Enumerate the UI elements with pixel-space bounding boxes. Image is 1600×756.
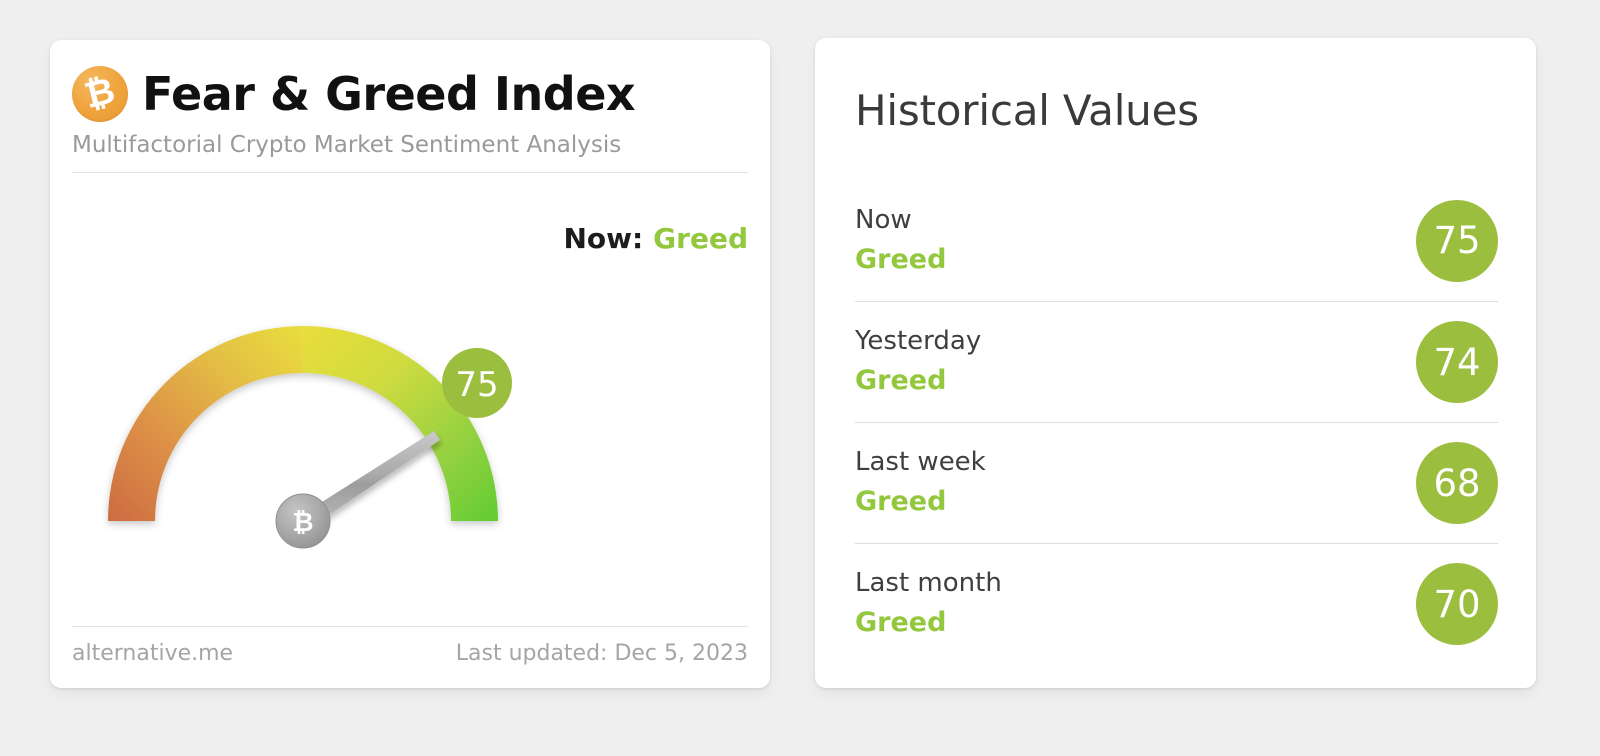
list-item[interactable]: Last week Greed 68 bbox=[855, 422, 1498, 543]
footer-divider bbox=[72, 626, 748, 627]
page-subtitle: Multifactorial Crypto Market Sentiment A… bbox=[72, 132, 748, 158]
row-value-badge: 68 bbox=[1416, 442, 1498, 524]
gauge-chart: 75 ₿ bbox=[50, 288, 770, 638]
now-label: Now: bbox=[563, 222, 643, 255]
gauge-svg: 75 ₿ bbox=[60, 288, 760, 638]
row-text-group: Yesterday Greed bbox=[855, 324, 981, 400]
historical-values-title: Historical Values bbox=[855, 86, 1199, 135]
gauge-arc-fear-segment bbox=[108, 326, 303, 521]
row-value-badge: 74 bbox=[1416, 321, 1498, 403]
gauge-arc bbox=[108, 326, 498, 521]
page-root: ₿ Fear & Greed Index Multifactorial Cryp… bbox=[0, 0, 1600, 756]
row-period-label: Now bbox=[855, 203, 946, 238]
row-text-group: Last month Greed bbox=[855, 566, 1002, 642]
bitcoin-logo-icon: ₿ bbox=[72, 66, 128, 122]
row-sentiment-label: Greed bbox=[855, 242, 946, 278]
row-period-label: Yesterday bbox=[855, 324, 981, 359]
source-link[interactable]: alternative.me bbox=[72, 641, 233, 666]
list-item[interactable]: Yesterday Greed 74 bbox=[855, 301, 1498, 422]
historical-values-list: Now Greed 75 Yesterday Greed 74 Last wee… bbox=[855, 180, 1498, 664]
row-sentiment-label: Greed bbox=[855, 363, 981, 399]
gauge-hub-bitcoin-glyph: ₿ bbox=[292, 508, 313, 538]
gauge-value-badge-text: 75 bbox=[455, 365, 498, 405]
title-row: ₿ Fear & Greed Index bbox=[72, 62, 748, 126]
last-updated-text: Last updated: Dec 5, 2023 bbox=[456, 641, 748, 666]
row-period-label: Last week bbox=[855, 445, 986, 480]
list-item[interactable]: Last month Greed 70 bbox=[855, 543, 1498, 664]
list-item[interactable]: Now Greed 75 bbox=[855, 180, 1498, 301]
footer-line: alternative.me Last updated: Dec 5, 2023 bbox=[72, 641, 748, 666]
gauge-card-footer: alternative.me Last updated: Dec 5, 2023 bbox=[72, 626, 748, 666]
gauge-value-badge: 75 bbox=[442, 348, 512, 418]
page-title: Fear & Greed Index bbox=[142, 67, 635, 121]
row-sentiment-label: Greed bbox=[855, 605, 1002, 641]
fear-greed-gauge-card: ₿ Fear & Greed Index Multifactorial Cryp… bbox=[50, 40, 770, 688]
row-text-group: Now Greed bbox=[855, 203, 946, 279]
row-value-badge: 70 bbox=[1416, 563, 1498, 645]
historical-values-card: Historical Values Now Greed 75 Yesterday… bbox=[815, 38, 1536, 688]
current-sentiment-row: Now:Greed bbox=[563, 222, 748, 255]
bitcoin-symbol-glyph: ₿ bbox=[68, 70, 131, 118]
row-period-label: Last month bbox=[855, 566, 1002, 601]
now-value: Greed bbox=[653, 222, 748, 255]
row-text-group: Last week Greed bbox=[855, 445, 986, 521]
gauge-needle-hub: ₿ bbox=[276, 494, 330, 548]
header-divider bbox=[72, 172, 748, 173]
row-value-badge: 75 bbox=[1416, 200, 1498, 282]
gauge-card-header: ₿ Fear & Greed Index Multifactorial Cryp… bbox=[72, 62, 748, 173]
row-sentiment-label: Greed bbox=[855, 484, 986, 520]
